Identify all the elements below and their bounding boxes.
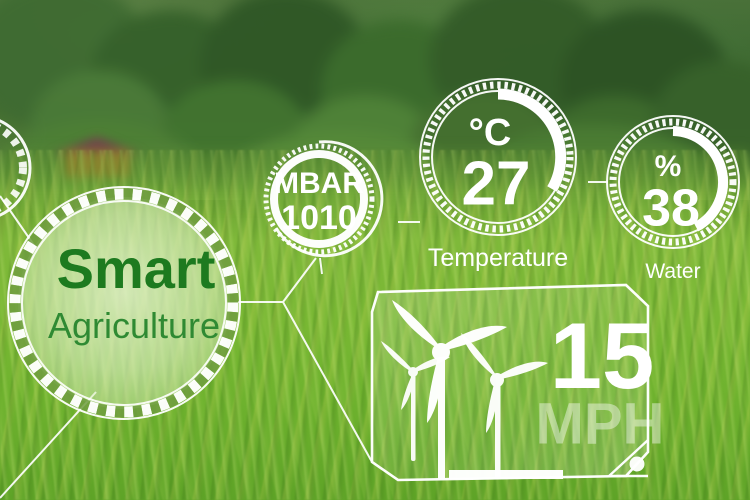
- wind-speed-unit: MPH: [536, 391, 665, 456]
- gauge-temperature-caption: Temperature: [428, 244, 568, 272]
- connector-hub-to-panel: [283, 302, 372, 462]
- wind-panel-status-dot: [630, 457, 645, 472]
- gauge-temperature[interactable]: °C 27 Temperature: [420, 79, 576, 272]
- gauge-temperature-unit: °C: [469, 112, 512, 154]
- gauge-pressure-value: 1010: [281, 199, 357, 237]
- edge-partial-gauge: [0, 116, 30, 220]
- wind-panel-bottom-bar: [449, 470, 563, 479]
- smart-agriculture-hud-scene: Smart Agriculture MBAR 1010 °C 27 Temper…: [0, 0, 750, 500]
- gauge-water-caption: Water: [645, 260, 700, 283]
- hud-overlay: Smart Agriculture MBAR 1010 °C 27 Temper…: [0, 0, 750, 500]
- gauge-pressure-unit: MBAR: [274, 167, 364, 200]
- connector-mbar-tail: [320, 258, 322, 274]
- wind-speed-panel[interactable]: 15 MPH: [372, 285, 664, 486]
- gauge-water-value: 38: [642, 180, 700, 238]
- gauge-water-unit: %: [655, 150, 682, 183]
- connector-hub-to-mbar: [283, 258, 316, 302]
- brand-title-line2: Agriculture: [48, 305, 220, 346]
- brand-title-line1: Smart: [57, 237, 216, 300]
- gauge-pressure[interactable]: MBAR 1010: [266, 142, 382, 256]
- gauge-temperature-value: 27: [462, 149, 531, 218]
- gauge-water[interactable]: % 38 Water: [607, 116, 739, 283]
- brand-badge[interactable]: Smart Agriculture: [8, 187, 240, 419]
